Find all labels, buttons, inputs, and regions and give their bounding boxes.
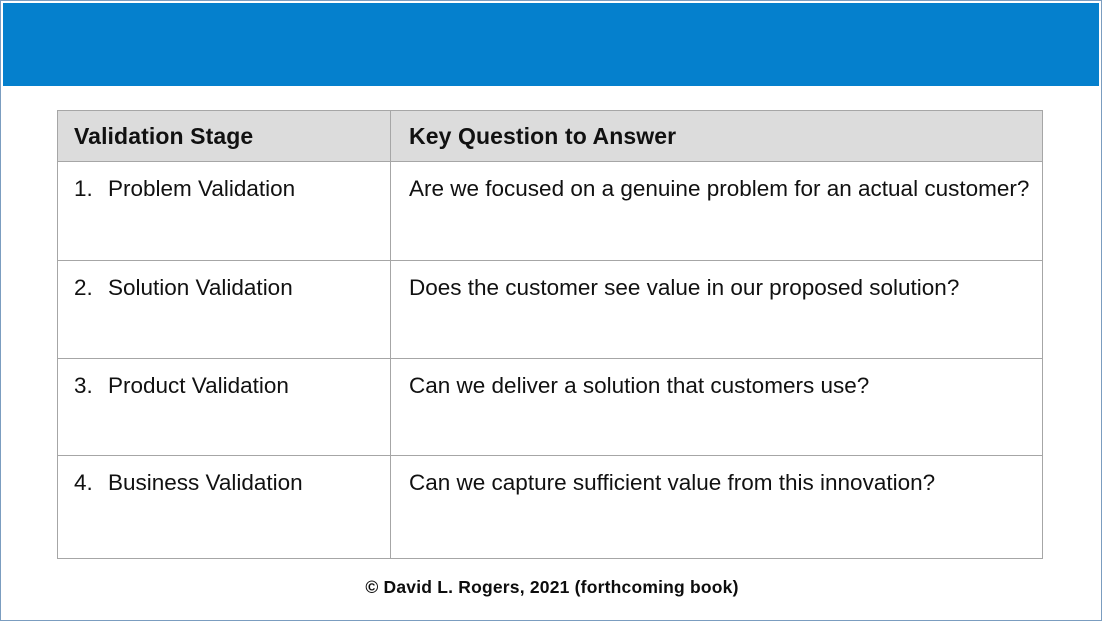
question-text-2: Does the customer see value in our propo… [391, 261, 1042, 303]
column-header-key-question: Key Question to Answer [391, 111, 1043, 162]
column-header-validation-stage: Validation Stage [58, 111, 391, 162]
stage-label-2: Solution Validation [108, 273, 293, 303]
stage-label-1: Problem Validation [108, 174, 295, 204]
stage-cell-2: 2. Solution Validation [58, 261, 391, 359]
question-cell-1: Are we focused on a genuine problem for … [391, 162, 1043, 261]
question-text-4: Can we capture sufficient value from thi… [391, 456, 1042, 498]
column-header-key-question-label: Key Question to Answer [391, 111, 1042, 150]
stage-label-4: Business Validation [108, 468, 303, 498]
table-row: 1. Problem Validation Are we focused on … [58, 162, 1043, 261]
question-cell-4: Can we capture sufficient value from thi… [391, 456, 1043, 559]
copyright-credit: © David L. Rogers, 2021 (forthcoming boo… [1, 577, 1102, 598]
question-cell-2: Does the customer see value in our propo… [391, 261, 1043, 359]
stage-number-2: 2. [74, 273, 108, 303]
stage-cell-3: 3. Product Validation [58, 359, 391, 456]
question-text-3: Can we deliver a solution that customers… [391, 359, 1042, 401]
column-header-validation-stage-label: Validation Stage [58, 111, 390, 150]
slide-canvas: Validation Stage Key Question to Answer … [0, 0, 1102, 621]
question-cell-3: Can we deliver a solution that customers… [391, 359, 1043, 456]
table-header: Validation Stage Key Question to Answer [58, 111, 1043, 162]
stage-number-3: 3. [74, 371, 108, 401]
table-row: 3. Product Validation Can we deliver a s… [58, 359, 1043, 456]
table-row: 2. Solution Validation Does the customer… [58, 261, 1043, 359]
stage-number-4: 4. [74, 468, 108, 498]
stage-number-1: 1. [74, 174, 108, 204]
table-body: 1. Problem Validation Are we focused on … [58, 162, 1043, 559]
question-text-1: Are we focused on a genuine problem for … [391, 162, 1042, 204]
table-header-row: Validation Stage Key Question to Answer [58, 111, 1043, 162]
stage-label-3: Product Validation [108, 371, 289, 401]
table-row: 4. Business Validation Can we capture su… [58, 456, 1043, 559]
top-banner [3, 3, 1099, 86]
stage-cell-4: 4. Business Validation [58, 456, 391, 559]
validation-stages-table: Validation Stage Key Question to Answer … [57, 110, 1043, 559]
stage-cell-1: 1. Problem Validation [58, 162, 391, 261]
